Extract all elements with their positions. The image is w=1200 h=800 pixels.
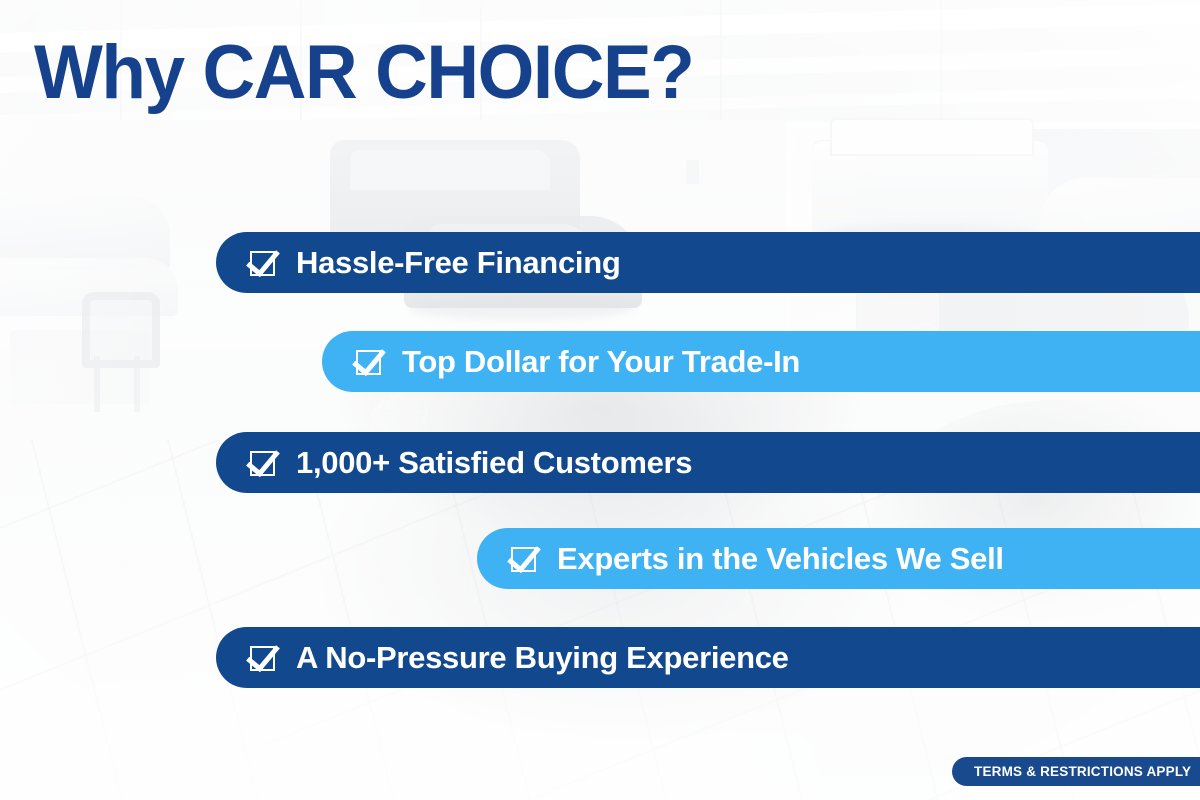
promotional-poster: Why CAR CHOICE? Hassle-Free Financing To…	[0, 0, 1200, 800]
checkbox-checked-icon	[250, 643, 280, 673]
benefit-item-3: 1,000+ Satisfied Customers	[216, 432, 1200, 493]
benefit-label: Top Dollar for Your Trade-In	[402, 346, 800, 377]
benefit-label: A No-Pressure Buying Experience	[296, 642, 789, 673]
benefit-item-4: Experts in the Vehicles We Sell	[477, 528, 1200, 589]
checkbox-checked-icon	[356, 347, 386, 377]
benefit-item-5: A No-Pressure Buying Experience	[216, 627, 1200, 688]
checkbox-checked-icon	[250, 448, 280, 478]
poster-content: Why CAR CHOICE? Hassle-Free Financing To…	[0, 0, 1200, 800]
checkbox-checked-icon	[250, 248, 280, 278]
benefit-item-1: Hassle-Free Financing	[216, 232, 1200, 293]
checkbox-checked-icon	[511, 544, 541, 574]
page-title: Why CAR CHOICE?	[34, 34, 693, 112]
benefit-item-2: Top Dollar for Your Trade-In	[322, 331, 1200, 392]
benefit-label: 1,000+ Satisfied Customers	[296, 447, 692, 478]
benefit-label: Hassle-Free Financing	[296, 247, 620, 278]
benefit-label: Experts in the Vehicles We Sell	[557, 543, 1004, 574]
terms-disclaimer-text: TERMS & RESTRICTIONS APPLY	[974, 764, 1191, 779]
terms-disclaimer-badge: TERMS & RESTRICTIONS APPLY	[952, 757, 1200, 786]
